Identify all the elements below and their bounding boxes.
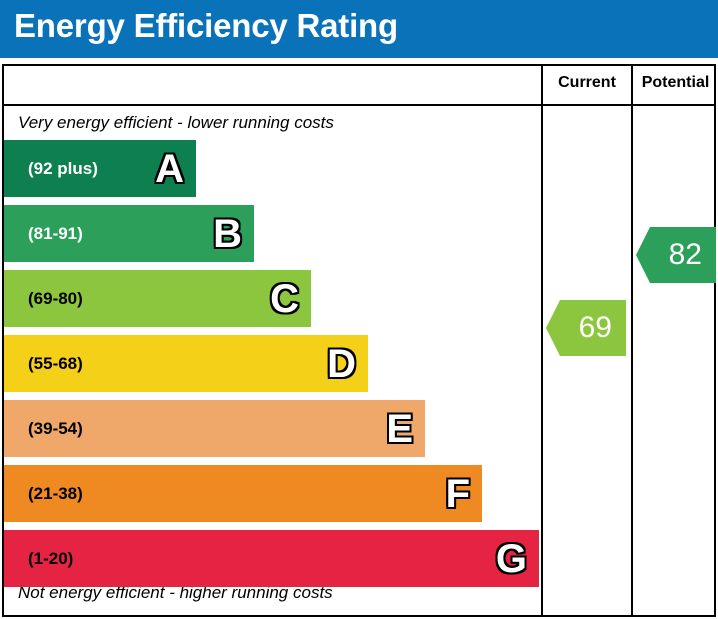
band-range-label: (39-54) — [28, 419, 83, 439]
page-title: Energy Efficiency Rating — [14, 7, 398, 45]
band-range-label: (81-91) — [28, 224, 83, 244]
band-range-label: (92 plus) — [28, 159, 98, 179]
band-letter-a: A — [155, 149, 184, 189]
band-bar-g: (1-20)G — [4, 530, 539, 587]
caption-very-efficient: Very energy efficient - lower running co… — [18, 113, 334, 133]
potential-rating-value: 82 — [669, 240, 702, 270]
column-header-potential: Potential — [633, 74, 718, 92]
potential-column-divider — [631, 66, 633, 615]
header-divider — [4, 104, 714, 106]
band-letter-g: G — [496, 539, 527, 579]
band-letter-d: D — [327, 344, 356, 384]
band-range-label: (21-38) — [28, 484, 83, 504]
current-column-divider — [541, 66, 543, 615]
band-range-label: (1-20) — [28, 549, 73, 569]
band-range-label: (55-68) — [28, 354, 83, 374]
band-letter-b: B — [213, 214, 242, 254]
band-bar-d: (55-68)D — [4, 335, 368, 392]
potential-rating-arrow: 82 — [636, 227, 716, 283]
band-bar-b: (81-91)B — [4, 205, 254, 262]
band-bar-f: (21-38)F — [4, 465, 482, 522]
band-letter-e: E — [386, 409, 413, 449]
column-header-current: Current — [543, 74, 631, 92]
energy-efficiency-rating-chart: Energy Efficiency Rating Current Potenti… — [0, 0, 718, 619]
band-letter-f: F — [446, 474, 470, 514]
band-range-label: (69-80) — [28, 289, 83, 309]
title-bar: Energy Efficiency Rating — [0, 0, 718, 58]
band-bars-area: (92 plus)A(81-91)B(69-80)C(55-68)D(39-54… — [4, 140, 541, 580]
band-letter-c: C — [270, 279, 299, 319]
band-bar-c: (69-80)C — [4, 270, 311, 327]
band-bar-a: (92 plus)A — [4, 140, 196, 197]
current-rating-value: 69 — [579, 313, 612, 343]
rating-table: Current Potential Very energy efficient … — [2, 64, 716, 617]
current-rating-arrow: 69 — [546, 300, 626, 356]
band-bar-e: (39-54)E — [4, 400, 425, 457]
